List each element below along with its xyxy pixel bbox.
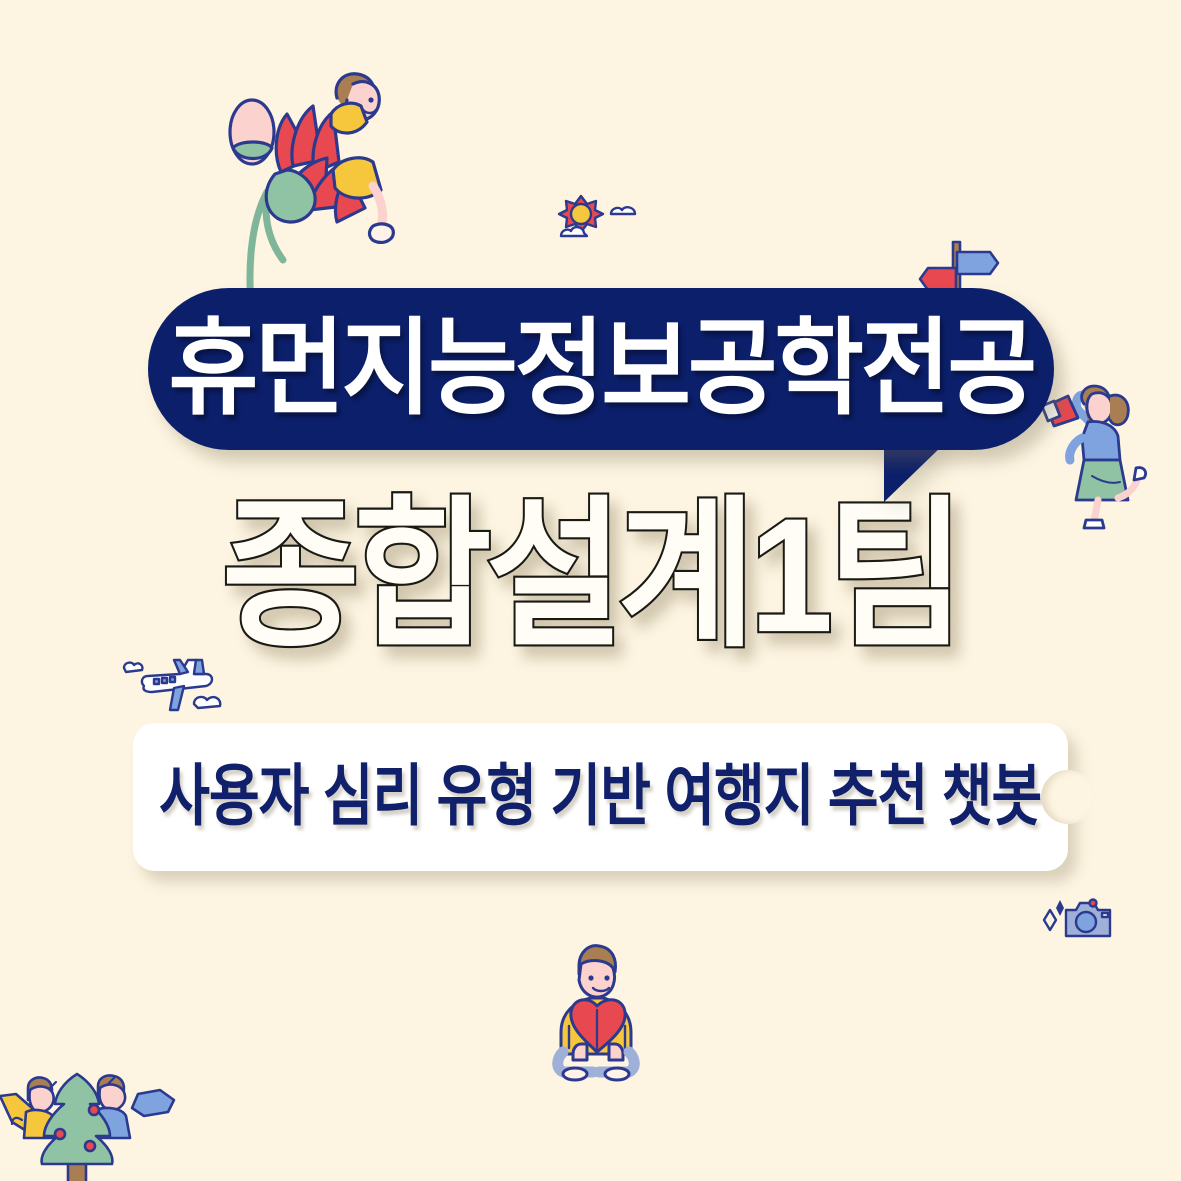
sun-clouds-illustration xyxy=(545,190,655,250)
team-heading-text: 종합설계1팀 xyxy=(222,490,959,662)
poster-canvas: 휴먼지능정보공학전공 종합설계1팀 사용자 심리 유형 기반 여행지 추천 챗봇 xyxy=(0,0,1181,1181)
tree-people-illustration xyxy=(0,1068,183,1181)
meditation-heart-illustration xyxy=(535,940,655,1080)
department-banner: 휴먼지능정보공학전공 xyxy=(148,288,1054,450)
department-name-text: 휴먼지능정보공학전공 xyxy=(162,317,1040,422)
camera-illustration xyxy=(1040,890,1120,950)
speech-bubble-tail xyxy=(884,444,944,502)
project-subtitle-text: 사용자 심리 유형 기반 여행지 추천 챗봇 xyxy=(159,763,1041,830)
airplane-illustration xyxy=(118,648,228,718)
project-subtitle-card: 사용자 심리 유형 기반 여행지 추천 챗봇 xyxy=(133,723,1068,871)
ticket-notch xyxy=(1041,770,1095,824)
team-heading: 종합설계1팀 xyxy=(0,496,1181,655)
flower-fairy-illustration xyxy=(205,62,405,322)
